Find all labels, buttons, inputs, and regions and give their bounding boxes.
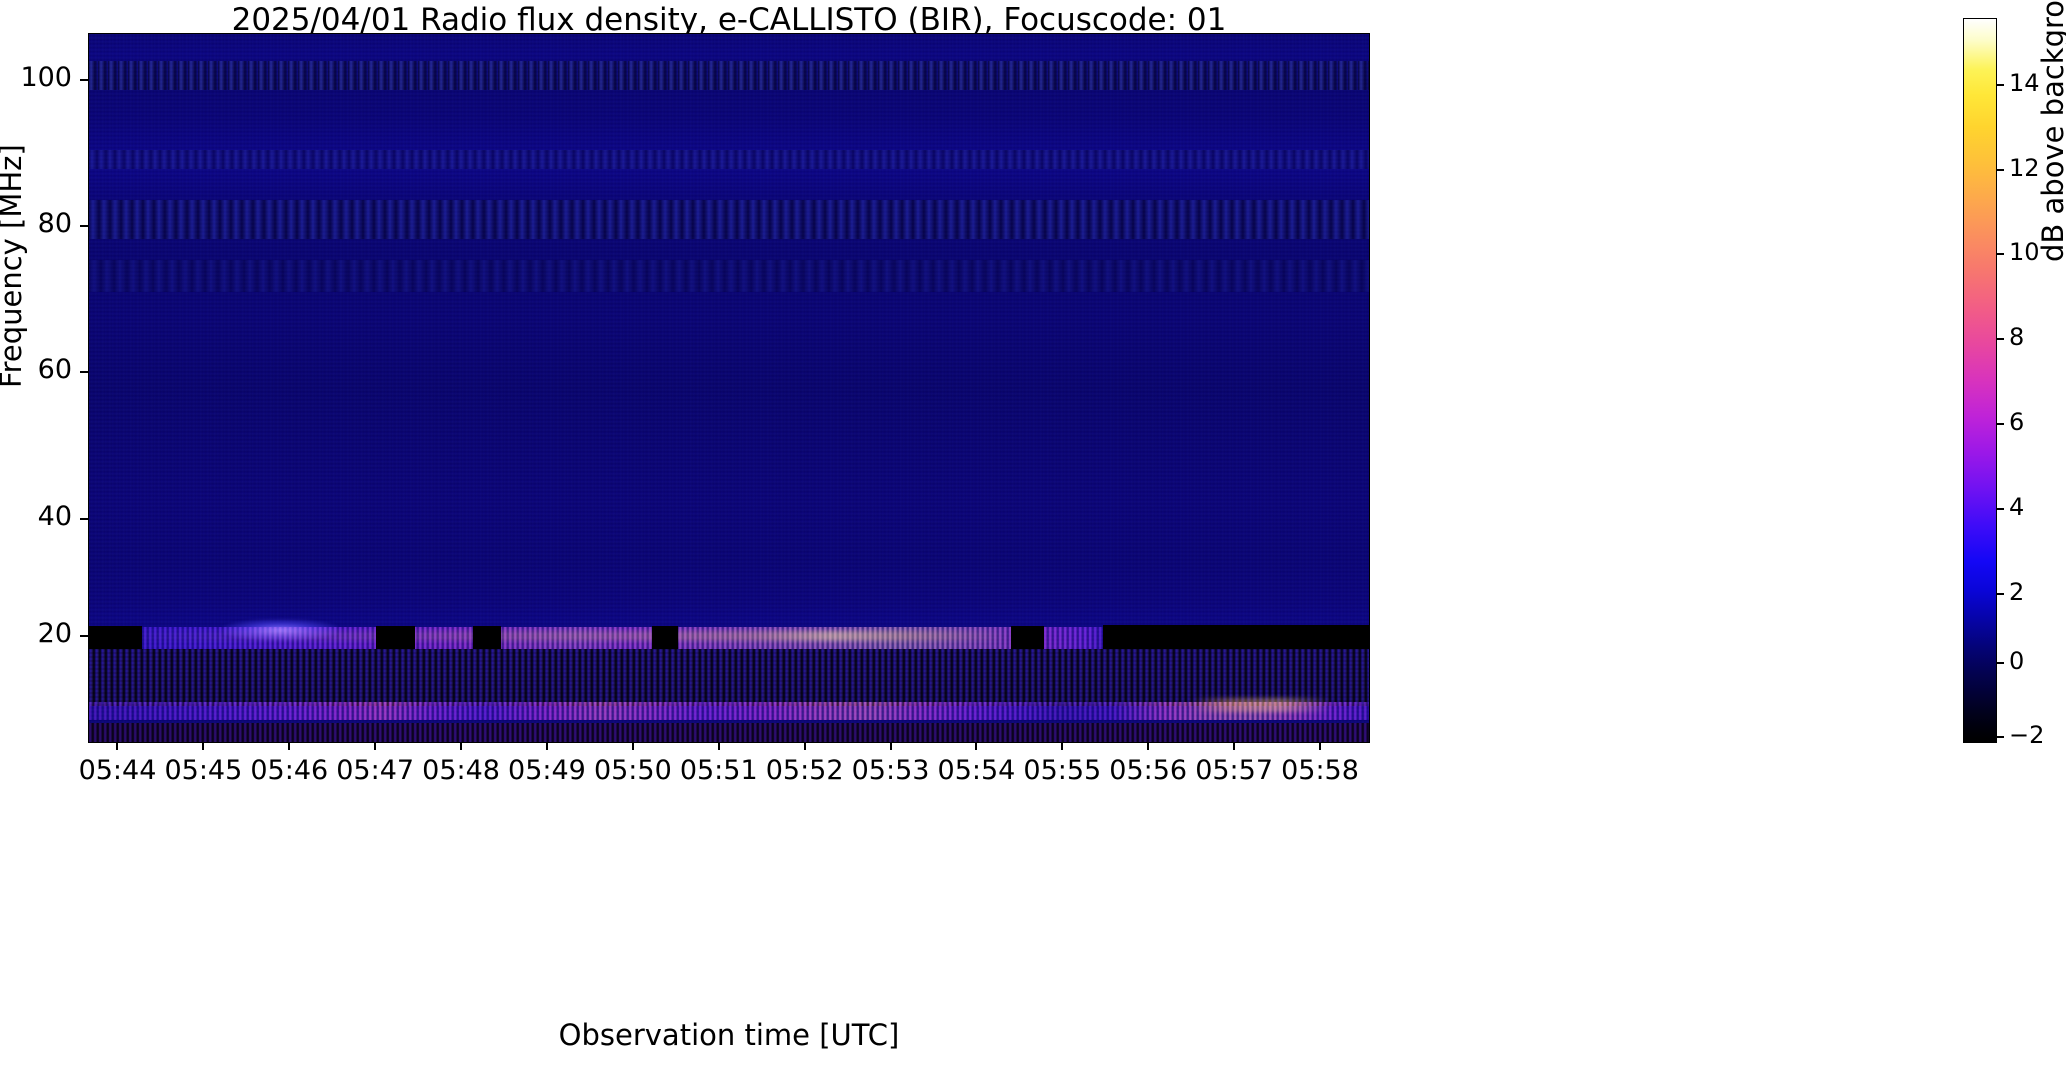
x-tick-0557 [1233,743,1235,750]
colorbar-tick-12 [1997,169,2004,171]
y-tick-100 [80,79,88,81]
colorbar-tick-8 [1997,338,2004,340]
fringe-band-72mhz [88,260,1370,292]
x-tick-label-0558: 05:58 [1260,755,1380,786]
y-tick-label-60: 60 [0,354,72,385]
x-tick-0550 [632,743,634,750]
x-tick-0549 [546,743,548,750]
colorbar-tick-label-0: 0 [2009,647,2024,675]
colorbar-tick--2 [1997,736,2004,738]
x-tick-0547 [374,743,376,750]
colorbar-tick-0 [1997,662,2004,664]
y-tick-label-100: 100 [0,62,72,93]
y-tick-label-40: 40 [0,501,72,532]
colorbar-gradient [1963,18,1997,743]
saturated-block-20mhz-b [376,626,414,649]
x-tick-0551 [718,743,720,750]
figure-canvas: 2025/04/01 Radio flux density, e-CALLIST… [0,0,2066,1067]
colorbar-tick-label-12: 12 [2009,154,2040,182]
saturated-block-20mhz-c [473,626,501,649]
x-tick-0554 [975,743,977,750]
y-tick-80 [80,225,88,227]
colorbar-tick-label-14: 14 [2009,69,2040,97]
colorbar-tick-2 [1997,593,2004,595]
bottom-edge-band-12mhz [88,723,1370,743]
x-axis-label: Observation time [UTC] [88,1018,1370,1052]
colorbar-tick-6 [1997,423,2004,425]
colorbar-tick-label-6: 6 [2009,408,2024,436]
saturated-block-20mhz-a [88,626,142,649]
x-tick-0555 [1061,743,1063,750]
y-tick-label-80: 80 [0,208,72,239]
colorbar-tick-label-4: 4 [2009,493,2024,521]
x-tick-0558 [1319,743,1321,750]
colorbar-label: dB above background [2036,0,2066,262]
saturated-block-20mhz-d [652,626,678,649]
colorbar-tick-label-10: 10 [2009,238,2040,266]
x-tick-0552 [804,743,806,750]
colorbar[interactable]: 14121086420−2 [1963,18,1997,743]
x-tick-0553 [890,743,892,750]
colorbar-tick-4 [1997,508,2004,510]
y-tick-60 [80,371,88,373]
y-tick-20 [80,635,88,637]
rfi-row-90mhz [88,150,1370,168]
y-tick-40 [80,518,88,520]
colorbar-tick-10 [1997,253,2004,255]
colorbar-tick-14 [1997,84,2004,86]
spectrogram-plot-area[interactable] [88,33,1370,743]
x-tick-0544 [116,743,118,750]
colorbar-tick-label-8: 8 [2009,323,2024,351]
x-tick-0546 [288,743,290,750]
fringe-band-80mhz [88,200,1370,239]
x-tick-0545 [202,743,204,750]
x-tick-0556 [1147,743,1149,750]
rfi-row-100mhz [88,61,1370,89]
y-axis-label: Frequency [MHz] [0,144,28,388]
saturated-block-20mhz-e [1011,626,1044,649]
y-tick-label-20: 20 [0,618,72,649]
emission-band-13mhz-glow [88,698,1370,712]
x-tick-0548 [460,743,462,750]
colorbar-tick-label--2: −2 [2009,721,2044,749]
saturated-block-20mhz-tail [1103,625,1370,649]
colorbar-tick-label-2: 2 [2009,578,2024,606]
